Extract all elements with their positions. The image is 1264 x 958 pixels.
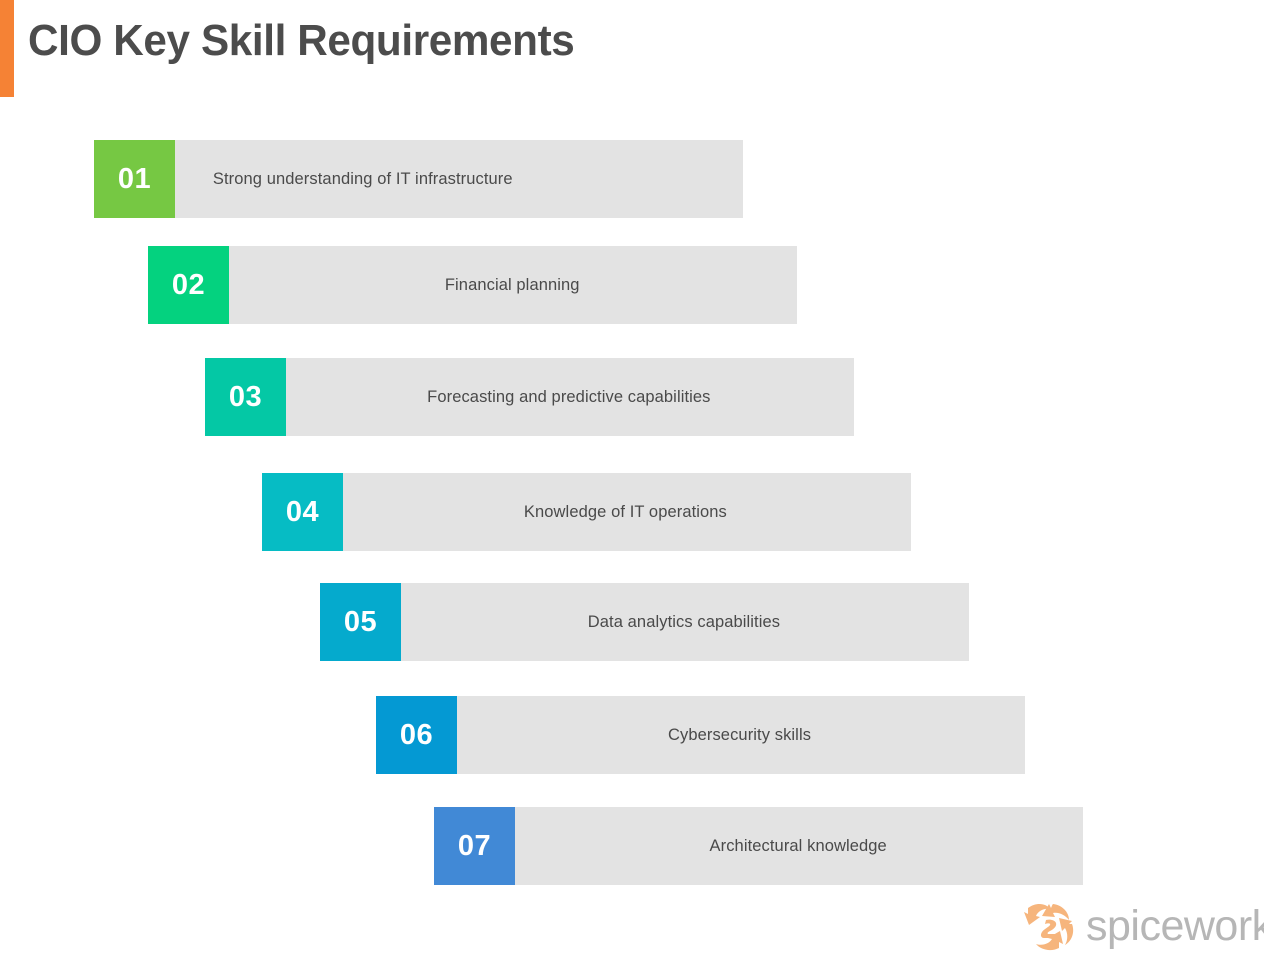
- skill-row: Data analytics capabilities05: [320, 583, 969, 661]
- skill-bar: Forecasting and predictive capabilities: [205, 358, 854, 436]
- skill-number-badge: 05: [320, 583, 401, 661]
- skill-label: Data analytics capabilities: [509, 612, 780, 632]
- infographic-slide: CIO Key Skill Requirements Strong unders…: [0, 0, 1264, 958]
- skill-number-badge: 02: [148, 246, 229, 324]
- skill-row: Cybersecurity skills06: [376, 696, 1025, 774]
- skill-label: Forecasting and predictive capabilities: [349, 387, 711, 407]
- skill-label: Cybersecurity skills: [590, 725, 812, 745]
- skill-bar: Knowledge of IT operations: [262, 473, 911, 551]
- skill-row: Financial planning02: [148, 246, 797, 324]
- skill-row: Forecasting and predictive capabilities0…: [205, 358, 854, 436]
- skill-number-badge: 03: [205, 358, 286, 436]
- skill-bar: Data analytics capabilities: [320, 583, 969, 661]
- skill-label: Architectural knowledge: [631, 836, 887, 856]
- skill-number: 03: [229, 381, 262, 414]
- skill-number-badge: 07: [434, 807, 515, 885]
- skill-number-badge: 06: [376, 696, 457, 774]
- skill-number-badge: 01: [94, 140, 175, 218]
- spiceworks-wordmark: spiceworks: [1086, 905, 1264, 948]
- skill-number: 07: [458, 830, 491, 863]
- skill-number: 02: [172, 269, 205, 302]
- skill-number: 06: [400, 719, 433, 752]
- skill-number: 04: [286, 496, 319, 529]
- skill-row: Knowledge of IT operations04: [262, 473, 911, 551]
- skill-row: Strong understanding of IT infrastructur…: [94, 140, 743, 218]
- skill-row: Architectural knowledge07: [434, 807, 1083, 885]
- skill-label: Financial planning: [366, 275, 579, 295]
- spiceworks-swirl-icon: [1022, 900, 1078, 952]
- skill-bar: Cybersecurity skills: [376, 696, 1025, 774]
- spiceworks-logo: spiceworks: [1022, 898, 1260, 954]
- skill-label: Knowledge of IT operations: [446, 502, 728, 522]
- skill-bar: Financial planning: [148, 246, 797, 324]
- skill-list: Strong understanding of IT infrastructur…: [0, 0, 1264, 958]
- skill-bar: Architectural knowledge: [434, 807, 1083, 885]
- skill-number: 05: [344, 606, 377, 639]
- skill-number: 01: [118, 163, 151, 196]
- skill-bar: Strong understanding of IT infrastructur…: [94, 140, 743, 218]
- skill-number-badge: 04: [262, 473, 343, 551]
